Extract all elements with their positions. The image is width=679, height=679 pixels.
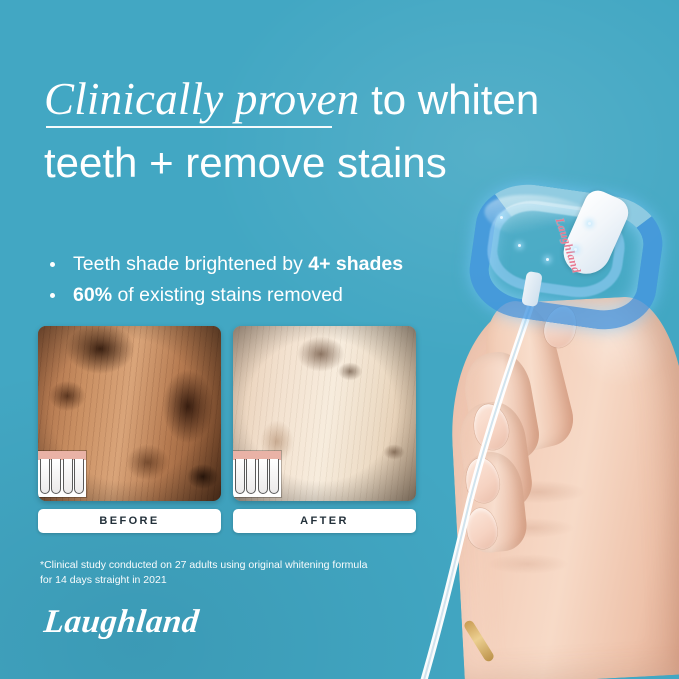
bullet-text: 60% of existing stains removed	[73, 283, 343, 308]
advertisement-canvas: Clinically proven to whiten teeth + remo…	[0, 0, 679, 679]
after-column: AFTER	[233, 326, 416, 533]
footnote-line-2: for 14 days straight in 2021	[40, 573, 440, 588]
tooth	[246, 459, 256, 494]
bullet-text: Teeth shade brightened by 4+ shades	[73, 252, 403, 277]
led-light-icon	[546, 258, 549, 261]
footnote: *Clinical study conducted on 27 adults u…	[40, 558, 440, 588]
tooth	[40, 459, 50, 494]
led-light-icon	[588, 222, 591, 225]
led-light-icon	[574, 248, 577, 251]
tooth	[269, 459, 279, 494]
teeth-row	[40, 459, 84, 494]
footnote-line-1: *Clinical study conducted on 27 adults u…	[40, 558, 440, 573]
after-photo	[233, 326, 416, 501]
tooth	[258, 459, 268, 494]
before-after-comparison: BEFORE AFTER	[38, 326, 416, 533]
headline-line-2: teeth + remove stains	[44, 139, 564, 187]
teeth-row	[235, 459, 279, 494]
led-light-icon	[500, 216, 503, 219]
bullet-suffix: of existing stains removed	[112, 284, 343, 306]
tooth-diagram-icon	[233, 451, 281, 497]
before-column: BEFORE	[38, 326, 221, 533]
benefit-list: Teeth shade brightened by 4+ shades 60% …	[46, 252, 466, 314]
headline-block: Clinically proven to whiten teeth + remo…	[44, 74, 564, 187]
headline-line-1: Clinically proven to whiten	[44, 74, 564, 125]
list-item: Teeth shade brightened by 4+ shades	[46, 252, 466, 277]
before-label: BEFORE	[38, 509, 221, 533]
tooth	[74, 459, 84, 494]
brand-logo: Laughland	[42, 604, 201, 641]
bullet-dot-icon	[50, 293, 55, 298]
bullet-emphasis: 60%	[73, 284, 112, 306]
bullet-dot-icon	[50, 262, 55, 267]
tooth	[63, 459, 73, 494]
led-whitening-device: Laughland	[466, 186, 666, 336]
list-item: 60% of existing stains removed	[46, 283, 466, 308]
headline-underline	[46, 126, 332, 128]
tooth	[51, 459, 61, 494]
led-light-icon	[518, 244, 521, 247]
before-photo	[38, 326, 221, 501]
bullet-prefix: Teeth shade brightened by	[73, 253, 308, 275]
headline-emphasis: Clinically proven	[44, 74, 359, 126]
tooth	[235, 459, 245, 494]
after-label: AFTER	[233, 509, 416, 533]
bullet-emphasis: 4+ shades	[308, 253, 403, 275]
tooth-diagram-icon	[38, 451, 86, 497]
headline-line-1-rest: to whiten	[359, 76, 539, 123]
